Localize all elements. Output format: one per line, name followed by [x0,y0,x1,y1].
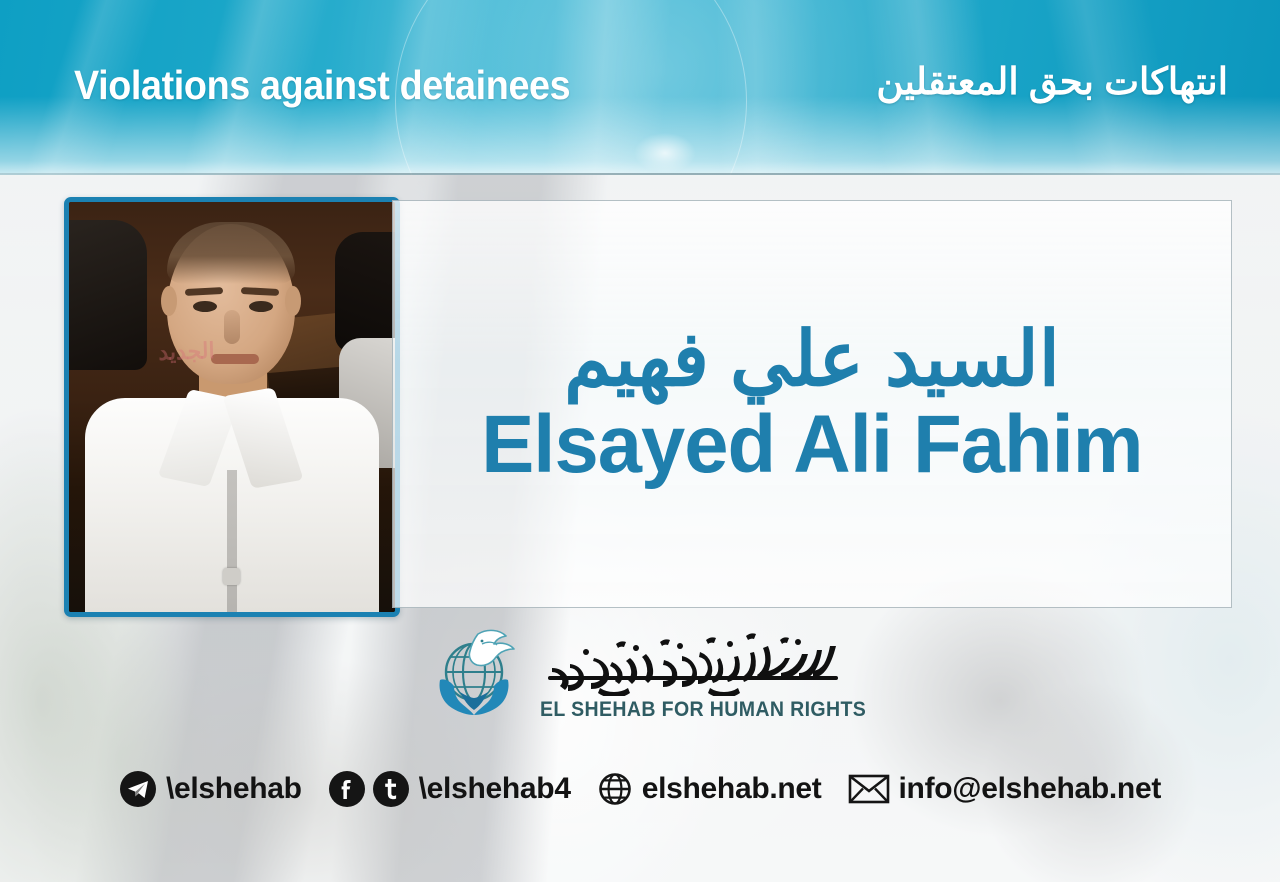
subject-ear-right [285,286,301,316]
logo-mark-icon [430,620,534,724]
contact-email-label: info@elshehab.net [899,772,1162,806]
contact-social-label: \elshehab4 [419,772,571,806]
contact-bar: \elshehab \elshehab4 [0,770,1280,808]
organization-name-english: EL SHEHAB FOR HUMAN RIGHTS [540,698,866,722]
subject-nose [224,310,240,344]
detainee-photo: الجديد [69,202,395,612]
organization-logo: EL SHEHAB FOR HUMAN RIGHTS [430,620,850,742]
subject-shirt-placket [227,470,237,612]
logo-text-block: EL SHEHAB FOR HUMAN RIGHTS [540,620,891,722]
envelope-icon[interactable] [848,773,890,805]
globe-icon[interactable] [597,771,633,807]
dove-icon [469,630,514,665]
poster-canvas: Violations against detainees انتهاكات بح… [0,0,1280,882]
contact-telegram[interactable]: \elshehab [119,770,302,808]
detainee-name-arabic: السيد علي فهيم [564,322,1060,398]
hands-icon [440,679,509,715]
detainee-name-english: Elsayed Ali Fahim [481,404,1142,486]
detainee-photo-frame: الجديد [64,197,400,617]
background-figure-right [335,232,395,352]
photo-watermark: الجديد [94,338,216,388]
contact-email[interactable]: info@elshehab.net [848,772,1162,806]
contact-website-label: elshehab.net [642,772,822,806]
facebook-icon[interactable] [328,770,366,808]
organization-name-arabic-calligraphy [540,628,846,696]
subject-eye-right [249,301,273,312]
telegram-icon[interactable] [119,770,157,808]
detainee-name-panel: السيد علي فهيم Elsayed Ali Fahim [392,200,1232,608]
subject-ear-left [161,286,177,316]
header-divider [0,173,1280,175]
subject-eye-left [193,301,217,312]
header-sparkle-icon [630,130,700,175]
contact-telegram-label: \elshehab [166,772,302,806]
subject-hair [167,222,295,284]
subject-mouth [211,354,259,364]
subject-shirt-button [223,568,240,585]
page-title-arabic: انتهاكات بحق المعتقلين [876,60,1228,103]
twitter-icon[interactable] [372,770,410,808]
page-title-english: Violations against detainees [74,62,570,109]
social-icon-group[interactable] [328,770,410,808]
contact-website[interactable]: elshehab.net [597,771,822,807]
contact-social[interactable]: \elshehab4 [328,770,571,808]
